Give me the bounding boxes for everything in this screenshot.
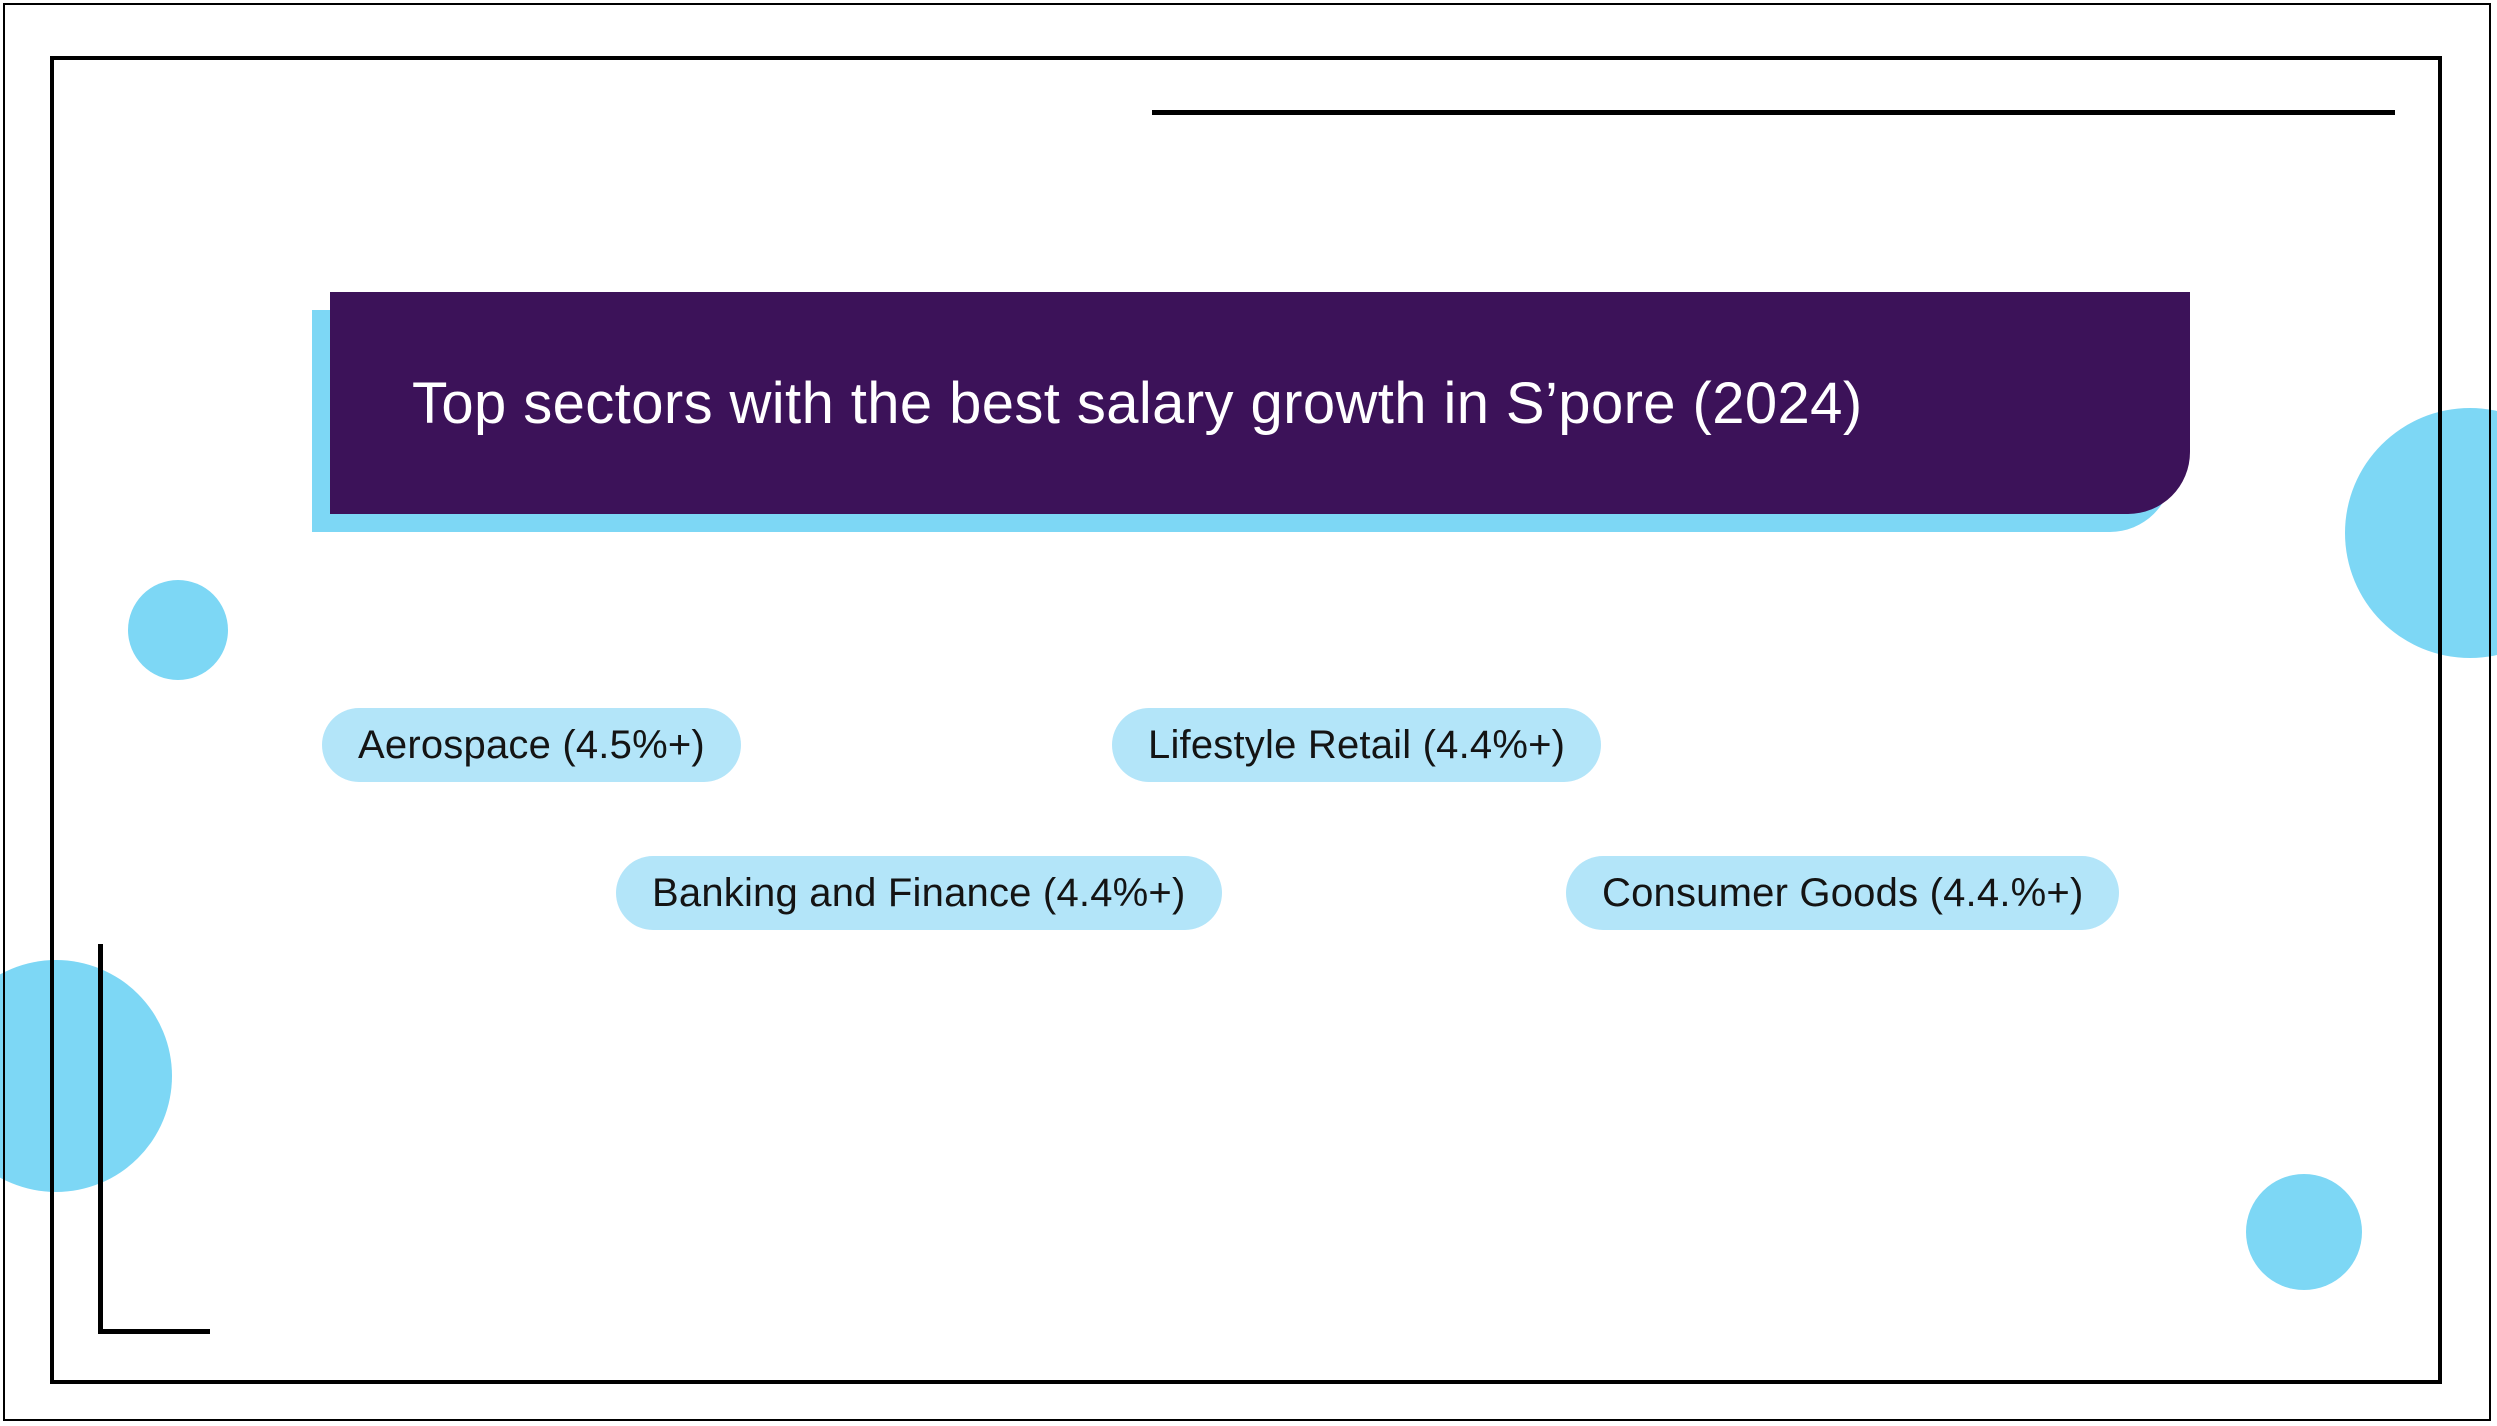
sector-pill-label: Consumer Goods (4.4.%+) (1602, 871, 2083, 916)
sector-pill-banking-and-finance: Banking and Finance (4.4%+) (616, 856, 1222, 930)
sector-pill-label: Banking and Finance (4.4%+) (652, 871, 1186, 916)
horizontal-rule-top-right (1152, 110, 2395, 115)
l-shaped-rule-bottom-left (98, 944, 210, 1334)
slide-canvas: Top sectors with the best salary growth … (0, 0, 2497, 1426)
sector-pill-aerospace: Aerospace (4.5%+) (322, 708, 741, 782)
sector-pill-label: Lifestyle Retail (4.4%+) (1148, 723, 1565, 768)
circle-decoration-right-small (2246, 1174, 2362, 1290)
title-banner: Top sectors with the best salary growth … (312, 292, 2212, 532)
page-title: Top sectors with the best salary growth … (330, 370, 1903, 437)
sector-pill-consumer-goods: Consumer Goods (4.4.%+) (1566, 856, 2119, 930)
circle-decoration-left-small (128, 580, 228, 680)
circle-decoration-right-large (2345, 408, 2497, 658)
title-banner-card: Top sectors with the best salary growth … (330, 292, 2190, 514)
sector-pill-lifestyle-retail: Lifestyle Retail (4.4%+) (1112, 708, 1601, 782)
sector-pill-label: Aerospace (4.5%+) (358, 723, 705, 768)
